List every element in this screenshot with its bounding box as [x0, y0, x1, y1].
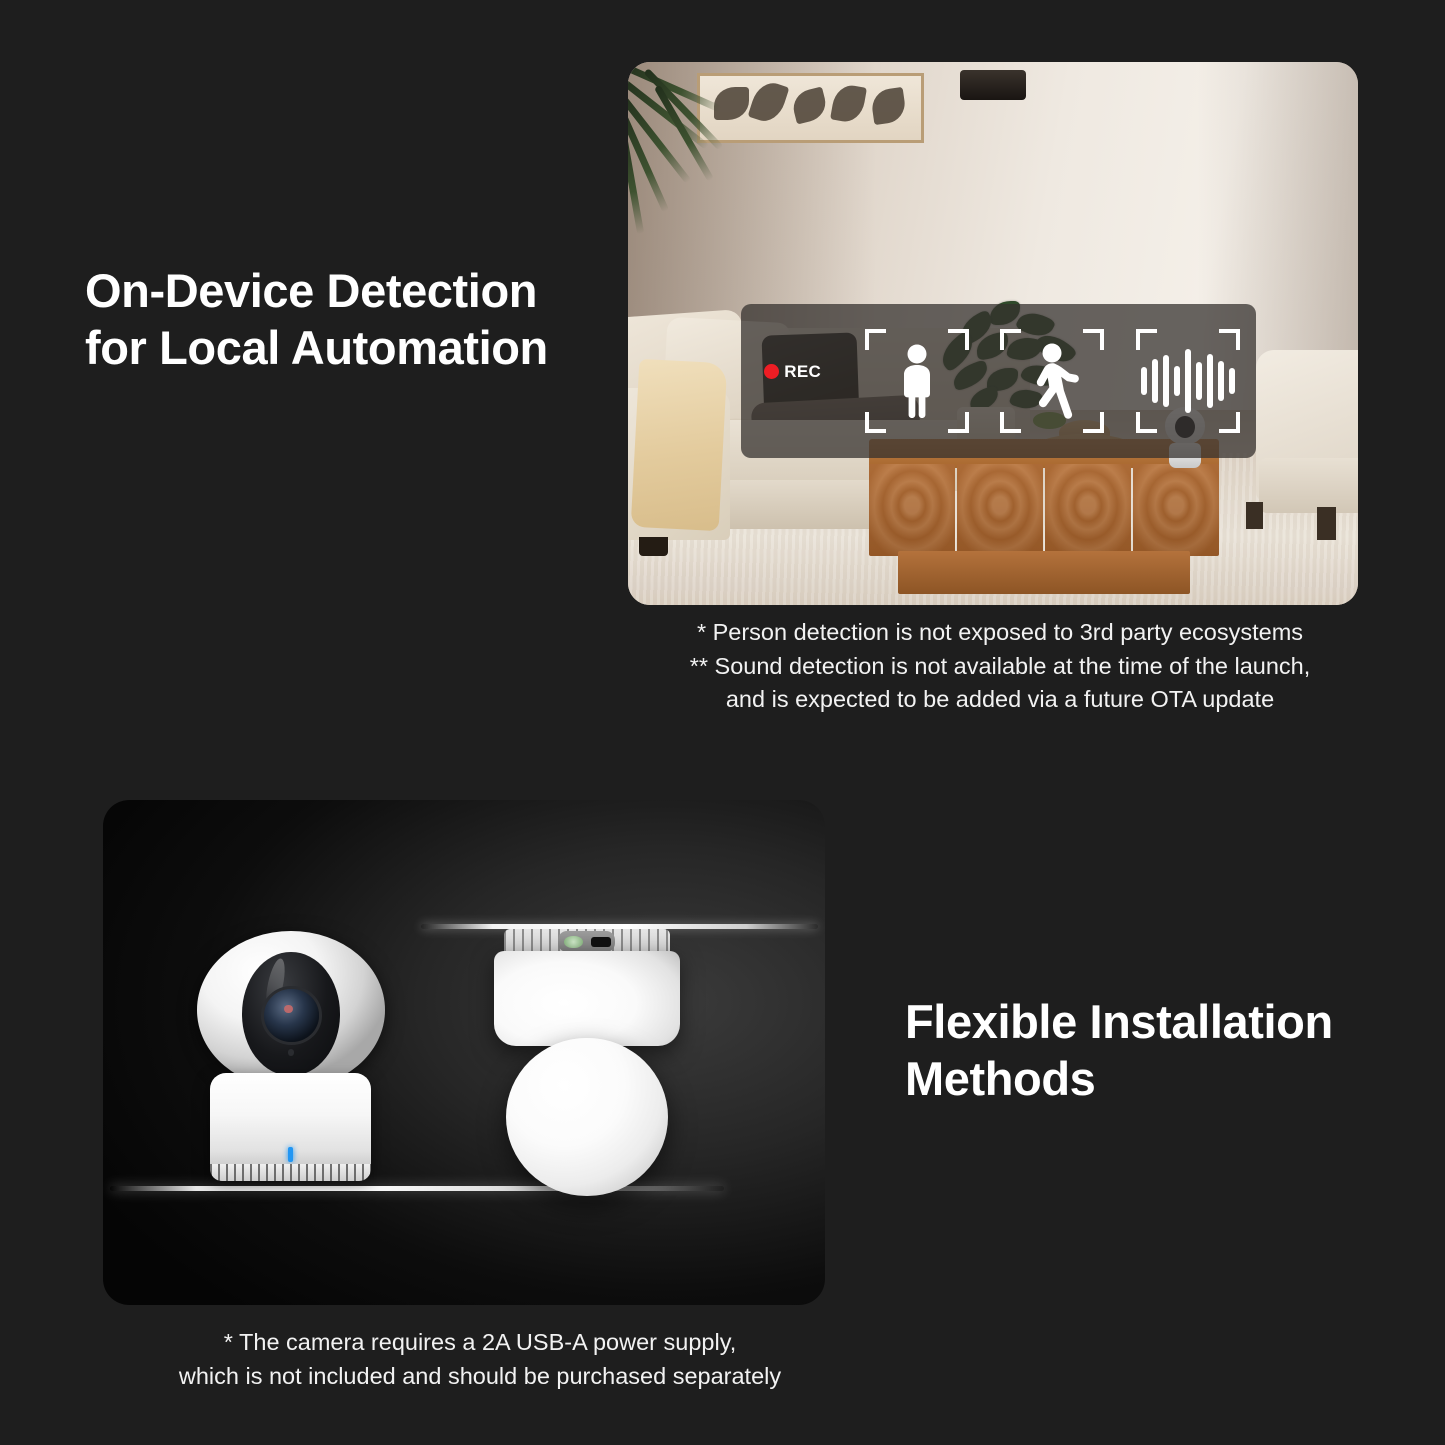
coffee-table-blocks	[869, 464, 1219, 556]
rec-dot-icon	[764, 364, 779, 379]
bracket-bottom-right	[948, 412, 969, 433]
ceiling-mounted-camera	[486, 929, 688, 1202]
usb-c-port	[591, 937, 611, 947]
bracket-bottom-right	[1083, 412, 1104, 433]
bracket-top-left	[1000, 329, 1021, 350]
marketing-page: On-Device Detection for Local Automation	[0, 0, 1445, 1445]
living-room-photo: REC	[628, 62, 1358, 605]
detection-footnote: * Person detection is not exposed to 3rd…	[640, 616, 1360, 717]
detection-slots	[849, 304, 1256, 459]
camera-base-inverted	[494, 951, 680, 1046]
camera-base	[210, 1073, 371, 1178]
installation-footnote: * The camera requires a 2A USB-A power s…	[130, 1326, 830, 1393]
waveform-bar	[1174, 366, 1180, 397]
sofa-foot	[639, 537, 668, 555]
waveform-bar	[1218, 361, 1224, 402]
waveform-bar	[1141, 367, 1147, 395]
waveform-bar	[1163, 355, 1169, 407]
bracket-bottom-left	[865, 412, 886, 433]
detection-heading: On-Device Detection for Local Automation	[85, 262, 625, 377]
product-panel	[103, 800, 825, 1305]
detection-frame-person	[865, 329, 969, 433]
desk-mounted-camera	[197, 931, 385, 1194]
bracket-bottom-left	[1136, 412, 1157, 433]
bracket-bottom-left	[1000, 412, 1021, 433]
armchair-seat	[1259, 458, 1358, 512]
person-standing-icon	[891, 344, 943, 418]
detection-frame-sound	[1136, 329, 1240, 433]
waveform-bar	[1152, 359, 1158, 402]
bracket-top-right	[1219, 329, 1240, 350]
waveform-bar	[1229, 368, 1235, 395]
camera-lens	[264, 989, 318, 1042]
camera-head-sphere	[506, 1038, 668, 1196]
waveform-bar	[1196, 362, 1202, 400]
status-led-icon	[288, 1147, 293, 1163]
base-vent-slots	[210, 1164, 371, 1181]
waveform-bar	[1185, 349, 1191, 413]
throw-blanket	[631, 358, 727, 531]
bracket-bottom-right	[1219, 412, 1240, 433]
bracket-top-left	[1136, 329, 1157, 350]
rec-badge: REC	[764, 362, 821, 382]
waveform-bar	[1207, 354, 1213, 409]
installation-heading: Flexible Installation Methods	[905, 993, 1405, 1108]
detection-overlay-bar: REC	[741, 304, 1256, 459]
coffee-table-plinth	[898, 551, 1190, 594]
armchair-leg	[1317, 507, 1336, 540]
bracket-top-right	[948, 329, 969, 350]
person-walking-icon	[1023, 343, 1081, 419]
detection-frame-motion	[1000, 329, 1104, 433]
reset-button[interactable]	[564, 936, 582, 949]
rec-label: REC	[784, 362, 821, 382]
palm-plant	[628, 62, 759, 187]
ceiling-sensor	[960, 70, 1026, 100]
bracket-top-left	[865, 329, 886, 350]
sound-waveform-icon	[1141, 346, 1235, 416]
armchair-leg-2	[1246, 502, 1264, 529]
bracket-top-right	[1083, 329, 1104, 350]
